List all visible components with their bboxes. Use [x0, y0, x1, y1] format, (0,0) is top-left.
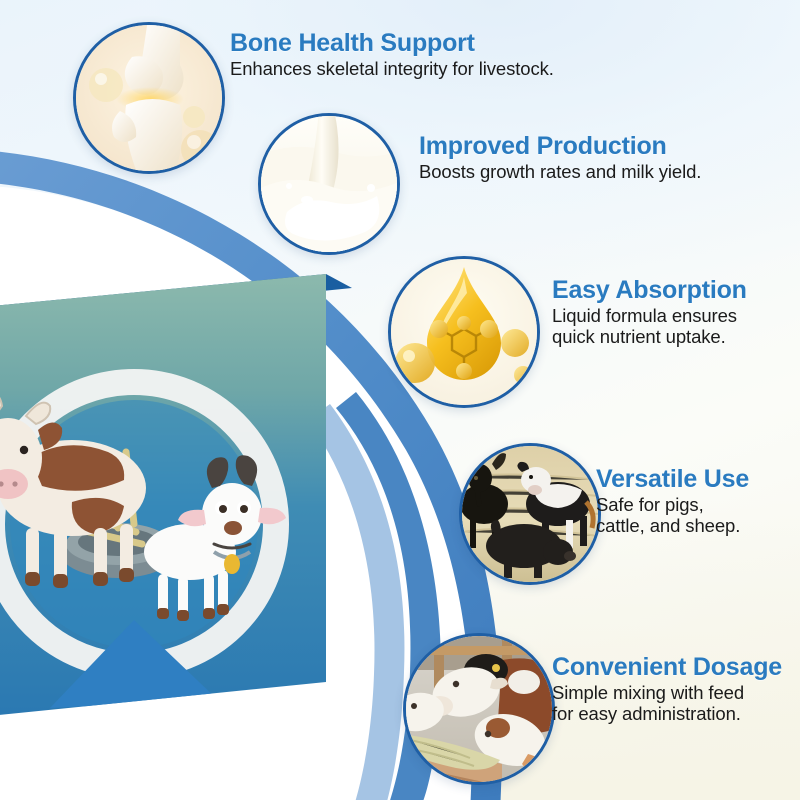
feature-line: Simple mixing with feed: [552, 682, 800, 703]
feature-line: Boosts growth rates and milk yield.: [419, 161, 789, 182]
feature-line: Enhances skeletal integrity for livestoc…: [230, 58, 590, 79]
feature-line: cattle, and sheep.: [596, 515, 800, 536]
feature-title: Versatile Use: [596, 466, 800, 492]
feature-line: Liquid formula ensures: [552, 305, 800, 326]
milk-pour-icon: [261, 116, 397, 252]
feature-image-milk-pour-splash-image: [258, 113, 400, 255]
feature-title: Improved Production: [419, 133, 789, 159]
product-infographic: ck: [0, 0, 800, 800]
product-box-artwork: [0, 252, 352, 772]
feature-line: Safe for pigs,: [596, 494, 800, 515]
feature-title: Easy Absorption: [552, 277, 800, 303]
feature-image-goat-cow-pig-farm-image: [459, 443, 601, 585]
feature-text-versatile-use: Versatile Use Safe for pigs, cattle, and…: [596, 466, 800, 536]
feature-text-convenient-dosage: Convenient Dosage Simple mixing with fee…: [552, 654, 800, 724]
oil-droplet-molecule-icon: [391, 259, 537, 405]
feature-text-improved-production: Improved Production Boosts growth rates …: [419, 133, 789, 182]
feature-text-bone-health-support: Bone Health Support Enhances skeletal in…: [230, 30, 590, 79]
feature-image-knee-joint-bone-image: [73, 22, 225, 174]
feature-image-oil-droplet-molecule-image: [388, 256, 540, 408]
knee-joint-bone-icon: [76, 25, 222, 171]
product-box: ck: [0, 252, 352, 772]
feature-line: for easy administration.: [552, 703, 800, 724]
calves-feeding-icon: [406, 636, 552, 782]
feature-title: Convenient Dosage: [552, 654, 800, 680]
feature-line: quick nutrient uptake.: [552, 326, 800, 347]
feature-image-calves-feeding-trough-image: [403, 633, 555, 785]
feature-title: Bone Health Support: [230, 30, 590, 56]
farm-animals-icon: [462, 446, 598, 582]
feature-text-easy-absorption: Easy Absorption Liquid formula ensures q…: [552, 277, 800, 347]
